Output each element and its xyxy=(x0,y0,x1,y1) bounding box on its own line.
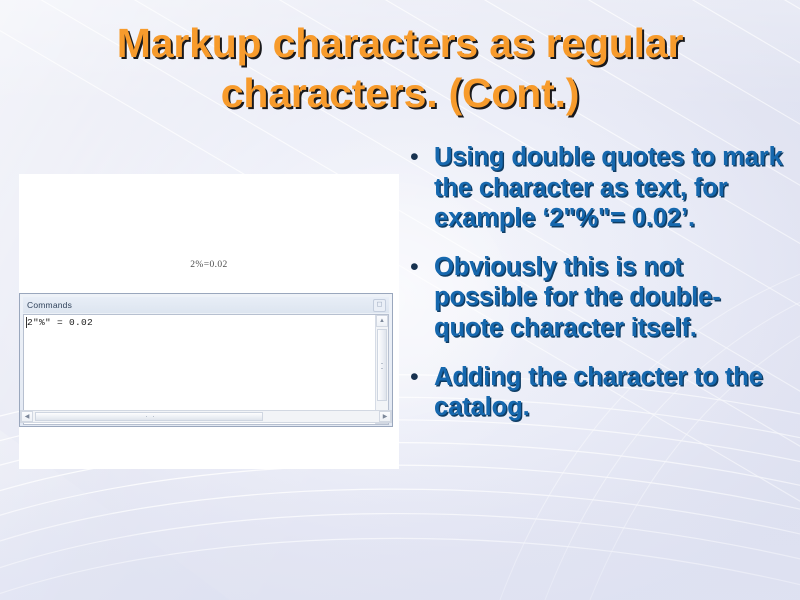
rendered-equation-text: 2%=0.02 xyxy=(19,260,399,270)
window-restore-icon[interactable]: ◻ xyxy=(373,299,386,312)
list-item: • Adding the character to the catalog. xyxy=(404,362,786,423)
presentation-slide: Markup characters as regular characters.… xyxy=(0,0,800,600)
commands-window-title: Commands xyxy=(23,300,72,310)
bullet-text: Using double quotes to mark the characte… xyxy=(434,142,786,234)
horizontal-scrollbar-thumb[interactable] xyxy=(35,412,263,421)
command-line-text: 2"%" = 0.02 xyxy=(27,317,93,328)
embedded-screenshot-image: 2%=0.02 Commands ◻ 2"%" = 0.02 ▲ ▼ ◀ xyxy=(19,174,399,469)
list-item: • Obviously this is not possible for the… xyxy=(404,252,786,344)
vertical-scrollbar-thumb[interactable] xyxy=(377,329,387,401)
commands-text-area[interactable]: 2"%" = 0.02 ▲ ▼ xyxy=(23,314,389,425)
slide-title: Markup characters as regular characters.… xyxy=(40,18,760,118)
scrollbar-grip xyxy=(381,363,383,369)
scroll-left-icon[interactable]: ◀ xyxy=(21,411,33,422)
list-item: • Using double quotes to mark the charac… xyxy=(404,142,786,234)
bullet-marker-icon: • xyxy=(404,142,434,172)
scroll-up-icon[interactable]: ▲ xyxy=(376,315,388,327)
horizontal-scrollbar[interactable]: ◀ ▶ xyxy=(20,410,392,423)
scrollbar-grip xyxy=(146,416,154,417)
slide-body-bullet-list: • Using double quotes to mark the charac… xyxy=(404,142,786,423)
bullet-marker-icon: • xyxy=(404,362,434,392)
bullet-text: Adding the character to the catalog. xyxy=(434,362,786,423)
bullet-text: Obviously this is not possible for the d… xyxy=(434,252,786,344)
commands-window-titlebar[interactable]: Commands ◻ xyxy=(23,297,389,313)
bullet-marker-icon: • xyxy=(404,252,434,282)
commands-window: Commands ◻ 2"%" = 0.02 ▲ ▼ ◀ xyxy=(19,293,393,427)
scroll-right-icon[interactable]: ▶ xyxy=(379,411,391,422)
vertical-scrollbar[interactable]: ▲ ▼ xyxy=(375,315,388,424)
